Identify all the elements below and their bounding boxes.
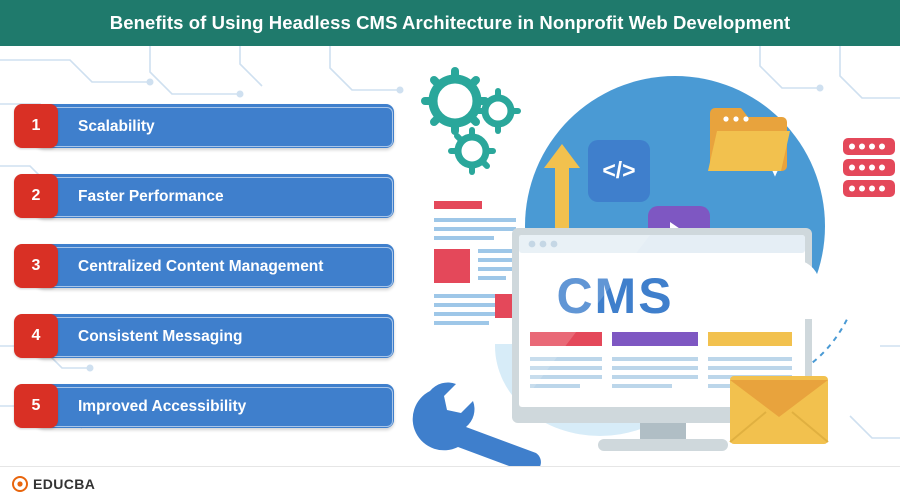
- list-item-pill-inner: Improved Accessibility: [39, 387, 393, 427]
- infographic-container: Benefits of Using Headless CMS Architect…: [0, 0, 900, 500]
- list-item-label: Scalability: [78, 118, 155, 136]
- code-card: </>: [588, 140, 650, 202]
- educba-logo-text: EDUCBA: [33, 476, 95, 492]
- educba-bullseye-icon: [12, 476, 28, 492]
- list-item[interactable]: Faster Performance 2: [14, 174, 394, 218]
- list-item-pill-inner: Centralized Content Management: [39, 247, 393, 287]
- body-area: Scalability 1 Faster Performance 2 Centr…: [0, 46, 900, 466]
- folder-icon: [708, 108, 790, 171]
- list-item[interactable]: Centralized Content Management 3: [14, 244, 394, 288]
- list-item-pill-inner: Faster Performance: [39, 177, 393, 217]
- list-item-number: 3: [14, 244, 58, 288]
- benefits-list: Scalability 1 Faster Performance 2 Centr…: [14, 104, 394, 454]
- server-icon: [843, 138, 895, 197]
- document-card: [425, 189, 525, 344]
- list-item-label: Faster Performance: [78, 188, 224, 206]
- footer-bar: EDUCBA: [0, 466, 900, 500]
- list-item-number: 4: [14, 314, 58, 358]
- gears-icon: [425, 71, 518, 172]
- illustration: </> CMS: [400, 46, 900, 466]
- list-item-pill-inner: Consistent Messaging: [39, 317, 393, 357]
- list-item[interactable]: Improved Accessibility 5: [14, 384, 394, 428]
- educba-logo: EDUCBA: [12, 476, 95, 492]
- page-title: Benefits of Using Headless CMS Architect…: [110, 12, 791, 34]
- envelope-icon: [730, 376, 828, 444]
- list-item-label: Improved Accessibility: [78, 398, 246, 416]
- list-item-number: 2: [14, 174, 58, 218]
- list-item-label: Centralized Content Management: [78, 258, 323, 276]
- list-item[interactable]: Scalability 1: [14, 104, 394, 148]
- list-item-pill-inner: Scalability: [39, 107, 393, 147]
- list-item-label: Consistent Messaging: [78, 328, 243, 346]
- svg-text:</>: </>: [602, 157, 635, 183]
- list-item-number: 1: [14, 104, 58, 148]
- list-item-number: 5: [14, 384, 58, 428]
- list-item[interactable]: Consistent Messaging 4: [14, 314, 394, 358]
- header-bar: Benefits of Using Headless CMS Architect…: [0, 0, 900, 46]
